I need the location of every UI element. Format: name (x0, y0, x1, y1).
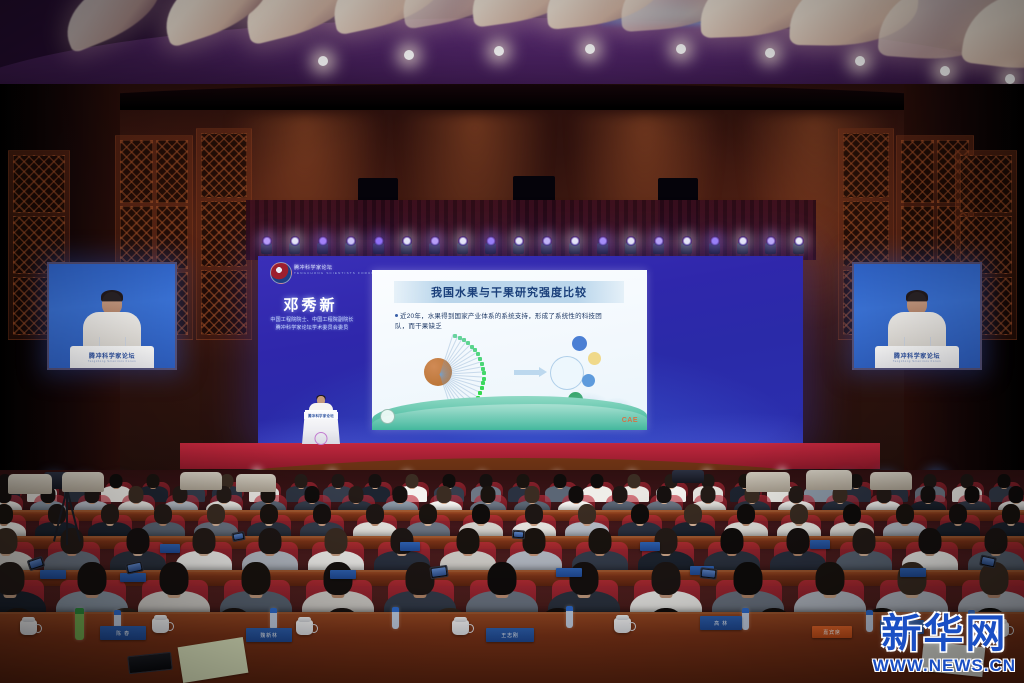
stage-moving-head-light (484, 236, 497, 254)
audience-area: 陈 春魏新林王志刚高 林李建国嘉宾席 (0, 470, 1024, 683)
phone-screen (981, 557, 994, 566)
light-beam-icon (486, 236, 496, 246)
water-bottle (270, 608, 277, 630)
stage-moving-head-light (764, 236, 777, 254)
audience-member-head (0, 504, 13, 524)
stage-moving-head-light (400, 236, 413, 254)
left-side-screen: 腾冲科学家论坛 Tengchong Scientists Forum (47, 262, 177, 370)
green-bottle (75, 608, 84, 640)
smartphone (429, 565, 448, 579)
light-beam-icon (346, 236, 356, 246)
diagram-satellite-node (588, 352, 601, 365)
audience-member-head (631, 504, 649, 524)
tripod-leg (66, 489, 81, 542)
forum-logo-subtitle: TENGCHONG SCIENTISTS FORUM (294, 271, 375, 275)
audience-name-placard (640, 542, 660, 551)
audience-member-head (78, 562, 107, 595)
stage-moving-head-light (540, 236, 553, 254)
audience-member-head (1009, 486, 1024, 503)
phone-screen (514, 532, 523, 538)
speaker-credentials: 中国工程院院士、中国工程院副院长 腾冲科学家论坛学术委员会委员 (258, 316, 366, 332)
stage-moving-head-light (792, 236, 805, 254)
audience-member-head (305, 486, 320, 503)
audience-member-head (349, 486, 364, 503)
light-beam-icon (738, 236, 748, 246)
audience-member-head (457, 528, 480, 554)
placard-name-text: 王志刚 (501, 632, 518, 639)
light-beam-icon (682, 236, 692, 246)
audience-member-head (325, 528, 348, 554)
ceiling-downlight-icon (404, 50, 414, 60)
lattice-cell (156, 206, 189, 269)
water-bottle (742, 608, 749, 630)
diagram-fan-dot (478, 357, 482, 361)
side-stage-chair (180, 472, 222, 490)
audience-member-head (129, 486, 144, 503)
audience-member-head (613, 486, 628, 503)
phone-screen (432, 567, 447, 577)
right-screen-speaker-body (888, 312, 946, 348)
left-screen-podium: 腾冲科学家论坛 Tengchong Scientists Forum (70, 346, 154, 368)
guest-seating-placard: 嘉宾席 (812, 626, 852, 638)
audience-member-head (789, 486, 804, 503)
audience-name-placard (400, 542, 420, 551)
audience-member-head (207, 504, 225, 524)
lattice-cell (843, 201, 889, 266)
lattice-cell (201, 133, 247, 198)
decorative-lattice-panel (196, 128, 252, 340)
audience-member-head (790, 504, 808, 524)
audience-member-head (787, 528, 810, 554)
side-stage-chair (806, 470, 852, 490)
audience-name-placard: 魏新林 (246, 628, 292, 642)
right-side-screen: 腾冲科学家论坛 Tengchong Scientists Forum (852, 262, 982, 370)
diagram-satellite-node (572, 336, 587, 351)
audience-member-head (721, 528, 744, 554)
diagram-fan-dot (482, 377, 486, 381)
audience-name-placard (900, 568, 926, 577)
audience-member-head (919, 528, 942, 554)
tea-cup-with-lid (20, 620, 37, 635)
audience-member-head (569, 486, 584, 503)
stage-moving-head-light (456, 236, 469, 254)
ceiling-downlight-icon (494, 46, 504, 56)
lattice-cell (901, 140, 934, 203)
audience-member-head (472, 504, 490, 524)
light-beam-icon (570, 236, 580, 246)
light-beam-icon (458, 236, 468, 246)
tea-cup-with-lid (614, 618, 631, 633)
right-screen-podium: 腾冲科学家论坛 Tengchong Scientists Forum (875, 346, 959, 368)
audience-member-head (260, 504, 278, 524)
side-stage-chair (870, 472, 912, 490)
audience-member-head (366, 504, 384, 524)
audience-member-head (965, 486, 980, 503)
audience-member-head (853, 528, 876, 554)
phone-screen (127, 563, 141, 573)
lattice-cell (901, 206, 934, 269)
stage-moving-head-light (624, 236, 637, 254)
audience-member-head (898, 562, 927, 595)
stage-moving-head-light (708, 236, 721, 254)
audience-name-placard (120, 573, 146, 582)
audience-member-head (985, 528, 1008, 554)
side-stage-chair (746, 472, 790, 492)
right-screen-podium-text-cn: 腾冲科学家论坛 (894, 351, 940, 360)
stage-moving-head-light (596, 236, 609, 254)
side-stage-chair (8, 474, 52, 494)
slide-title: 我国水果与干果研究强度比较 (431, 284, 587, 300)
water-bottle (392, 607, 399, 629)
audience-member-head (525, 504, 543, 524)
ceiling-downlight-icon (676, 44, 686, 54)
diagram-fan-dot (480, 386, 484, 390)
stage-moving-head-light (652, 236, 665, 254)
forum-logo-icon (270, 262, 292, 284)
tea-cup-with-lid (452, 620, 469, 635)
audience-member-head (0, 528, 18, 554)
audience-name-placard (810, 540, 830, 549)
audience-member-head (589, 528, 612, 554)
light-beam-icon (794, 236, 804, 246)
lattice-cell (960, 155, 1012, 213)
diagram-fan-dot (482, 371, 486, 375)
slide-footer-logo: CAE (622, 417, 638, 424)
video-camera-body (672, 470, 704, 483)
audience-member-head (193, 528, 216, 554)
left-screen-podium-text-cn: 腾冲科学家论坛 (89, 351, 135, 360)
presentation-slide: 我国水果与干果研究强度比较 近20年，水果得到国家产业体系的系统支持，形成了系统… (372, 270, 647, 430)
light-beam-icon (402, 236, 412, 246)
audience-member-head (313, 504, 331, 524)
diagram-fan-dot (481, 381, 485, 385)
light-beam-icon (766, 236, 776, 246)
audience-member-head (488, 562, 517, 595)
light-beam-icon (318, 236, 328, 246)
orange-placard-text: 嘉宾席 (823, 629, 840, 636)
ceiling-downlight-icon (585, 44, 595, 54)
stage-moving-head-light (736, 236, 749, 254)
side-stage-chair (62, 472, 104, 492)
audience-name-placard (160, 544, 180, 553)
watermark-brand-cn: 新华网 (873, 613, 1016, 655)
left-screen-speaker-body (83, 312, 141, 348)
phone-screen (234, 533, 244, 539)
phone-screen (702, 569, 716, 577)
audience-member-head (578, 504, 596, 524)
audience-member-head (160, 562, 189, 595)
audience-member-head (921, 486, 936, 503)
lattice-cell (120, 206, 153, 269)
tea-cup-with-lid (296, 620, 313, 635)
lattice-cell (13, 155, 65, 213)
ceiling-downlight-icon (940, 66, 950, 76)
ceiling-downlight-icon (855, 56, 865, 66)
audience-member-head (525, 486, 540, 503)
audience-member-head (734, 562, 763, 595)
water-bottle (566, 606, 573, 628)
audience-member-head (0, 562, 25, 595)
light-beam-icon (598, 236, 608, 246)
slide-footer-mark-icon (380, 409, 395, 424)
bullet-dot-icon (395, 314, 398, 317)
light-beam-icon (262, 236, 272, 246)
placard-name-text: 高 林 (714, 620, 728, 627)
right-screen-podium-text-en: Tengchong Scientists Forum (893, 360, 941, 363)
podium-nameplate-text: 腾冲科学家论坛 (308, 413, 334, 418)
stage-podium: 腾冲科学家论坛 (300, 396, 342, 444)
ceiling-downlight-icon (318, 56, 328, 66)
podium-ring-emblem-icon (315, 432, 328, 445)
audience-member-head (437, 486, 452, 503)
lattice-cell (201, 201, 247, 266)
tripod-leg (66, 489, 68, 545)
stage-moving-head-light (288, 236, 301, 254)
stage-light-truss (252, 232, 810, 258)
watermark-url: WWW.NEWS.CN (873, 656, 1016, 675)
ceiling-downlight-icon (1005, 74, 1015, 84)
placard-name-text: 陈 春 (116, 630, 130, 637)
audience-member-head (419, 504, 437, 524)
speaker-credentials-line-1: 中国工程院院士、中国工程院副院长 (258, 316, 366, 324)
stage-moving-head-light (316, 236, 329, 254)
audience-member-head (393, 486, 408, 503)
light-beam-icon (654, 236, 664, 246)
tea-cup-with-lid (152, 618, 169, 633)
audience-member-head (657, 486, 672, 503)
smartphone (699, 567, 717, 580)
audience-member-head (949, 504, 967, 524)
stage-moving-head-light (428, 236, 441, 254)
podium-nameplate: 腾冲科学家论坛 (304, 412, 338, 419)
audience-name-placard: 高 林 (700, 616, 742, 630)
lattice-cell (843, 133, 889, 198)
watermark: 新华网 WWW.NEWS.CN (873, 613, 1016, 675)
audience-name-placard: 王志刚 (486, 628, 534, 642)
light-beam-icon (626, 236, 636, 246)
diagram-fan-dot (480, 362, 484, 366)
light-beam-icon (430, 236, 440, 246)
audience-member-head (816, 562, 845, 595)
stage-moving-head-light (372, 236, 385, 254)
audience-name-placard (330, 570, 356, 579)
ceiling-downlight-icon (765, 48, 775, 58)
stage-moving-head-light (568, 236, 581, 254)
audience-name-placard (40, 570, 66, 579)
phone-screen (29, 558, 43, 568)
audience-name-placard: 陈 春 (100, 626, 146, 640)
forum-logo-title: 腾冲科学家论坛 (294, 264, 333, 271)
lattice-cell (201, 270, 247, 335)
light-beam-icon (290, 236, 300, 246)
audience-member-head (242, 562, 271, 595)
audience-member-head (259, 528, 282, 554)
speaker-credentials-line-2: 腾冲科学家论坛学术委员会委员 (258, 324, 366, 332)
audience-name-placard (556, 568, 582, 577)
light-beam-icon (374, 236, 384, 246)
slide-title-band: 我国水果与干果研究强度比较 (394, 281, 624, 303)
lattice-cell (156, 140, 189, 203)
speaker-name: 邓秀新 (258, 294, 363, 315)
stage-moving-head-light (344, 236, 357, 254)
stage-moving-head-light (512, 236, 525, 254)
audience-member-head (652, 562, 681, 595)
audience-member-head (481, 486, 496, 503)
smartphone (512, 530, 526, 540)
audience-member-head (570, 562, 599, 595)
side-stage-chair (236, 474, 276, 492)
audience-member-head (523, 528, 546, 554)
audience-member-head (737, 504, 755, 524)
audience-member-head (127, 528, 150, 554)
light-beam-icon (542, 236, 552, 246)
light-beam-icon (710, 236, 720, 246)
light-beam-icon (514, 236, 524, 246)
lattice-cell (120, 140, 153, 203)
placard-name-text: 魏新林 (260, 632, 277, 639)
auditorium-photo: 腾冲科学家论坛 TENGCHONG SCIENTISTS FORUM 邓秀新 中… (0, 0, 1024, 683)
diagram-fan-dot (478, 391, 482, 395)
audience-member-head (154, 504, 172, 524)
stage-moving-head-light (680, 236, 693, 254)
audience-member-head (1002, 504, 1020, 524)
left-screen-podium-text-en: Tengchong Scientists Forum (88, 360, 136, 363)
audience-member-head (843, 504, 861, 524)
video-camera-secondary (672, 470, 724, 514)
diagram-fan-dot (481, 367, 485, 371)
audience-member-head (896, 504, 914, 524)
stage-moving-head-light (260, 236, 273, 254)
